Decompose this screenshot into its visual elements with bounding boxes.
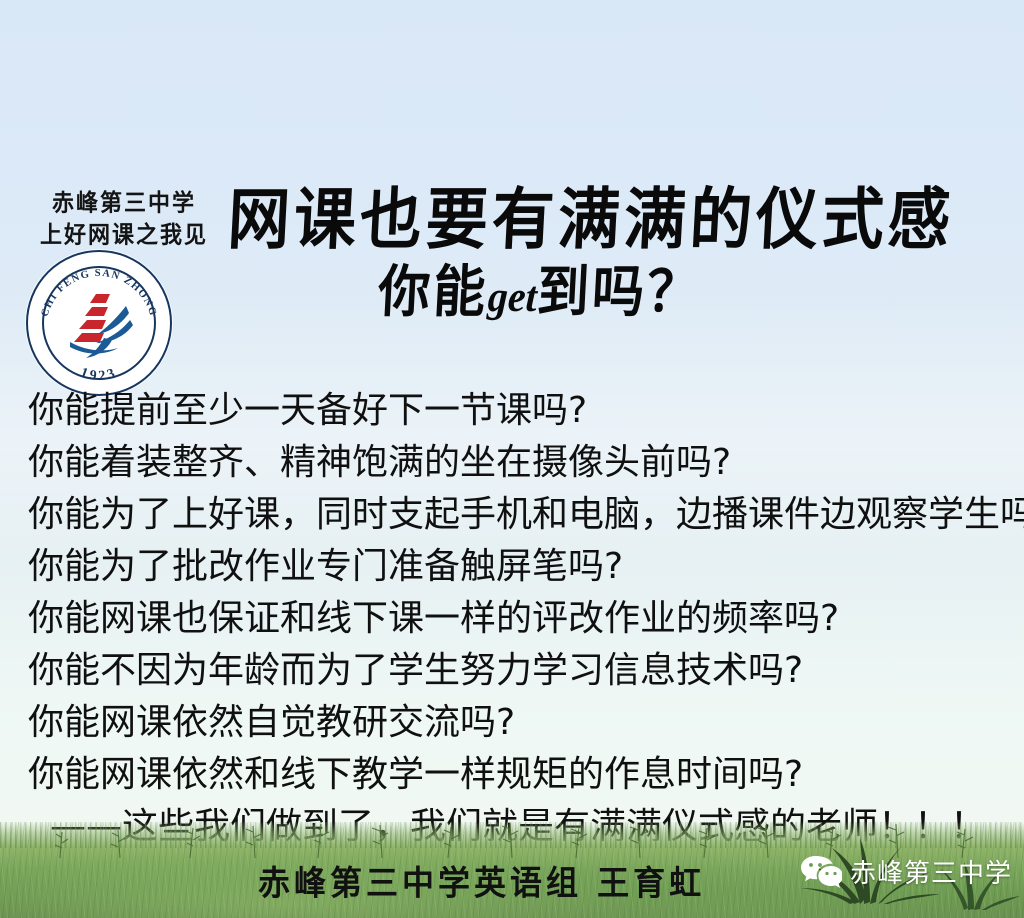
- school-crest-logo: CHI FENG SAN ZHONG 1923: [26, 250, 172, 396]
- question-line: 你能为了批改作业专门准备触屏笔吗?: [28, 541, 1018, 593]
- title-line-2: 你能get到吗？: [228, 257, 1022, 333]
- watermark-label: 赤峰第三中学: [850, 853, 1012, 890]
- title-line-1: 网课也要有满满的仪式感: [226, 180, 1020, 260]
- question-line: 你能为了上好课，同时支起手机和电脑，边播课件边观察学生吗?: [28, 489, 1018, 541]
- crest-red-sail-icon: [74, 294, 110, 342]
- title-line-2-before: 你能: [376, 260, 489, 325]
- main-title: 网课也要有满满的仪式感 你能get到吗？: [230, 180, 1020, 330]
- question-line: 你能网课依然自觉教研交流吗?: [28, 697, 1018, 749]
- school-name: 赤峰第三中学: [24, 187, 224, 221]
- crest-year-textpath: 1923: [78, 365, 120, 384]
- school-subtitle: 上好网课之我见: [24, 219, 224, 253]
- crest-year-text: 1923: [78, 365, 120, 384]
- school-header: 赤峰第三中学 上好网课之我见: [24, 188, 224, 252]
- signature-text: 赤峰第三中学英语组 王育虹: [258, 857, 705, 905]
- question-list: 你能提前至少一天备好下一节课吗? 你能着装整齐、精神饱满的坐在摄像头前吗? 你能…: [28, 385, 1018, 853]
- question-line: 你能不因为年龄而为了学生努力学习信息技术吗?: [28, 645, 1018, 697]
- poster-canvas: 赤峰第三中学 上好网课之我见 CHI FENG SAN ZHONG 1923: [0, 0, 1024, 918]
- question-line: 你能提前至少一天备好下一节课吗?: [28, 385, 1018, 437]
- title-line-2-after: 到吗？: [535, 260, 703, 325]
- wechat-icon: [800, 855, 842, 889]
- wechat-watermark: 赤峰第三中学: [800, 853, 1012, 890]
- title-line-2-get: get: [487, 272, 538, 321]
- question-line: 你能网课依然和线下教学一样规矩的作息时间吗?: [28, 749, 1018, 801]
- question-line: 你能网课也保证和线下课一样的评改作业的频率吗?: [28, 593, 1018, 645]
- grass-field: 赤峰第三中学英语组 王育虹 赤峰第三中学: [0, 822, 1024, 918]
- crest-graphics: CHI FENG SAN ZHONG 1923: [26, 250, 172, 396]
- question-line: 你能着装整齐、精神饱满的坐在摄像头前吗?: [28, 437, 1018, 489]
